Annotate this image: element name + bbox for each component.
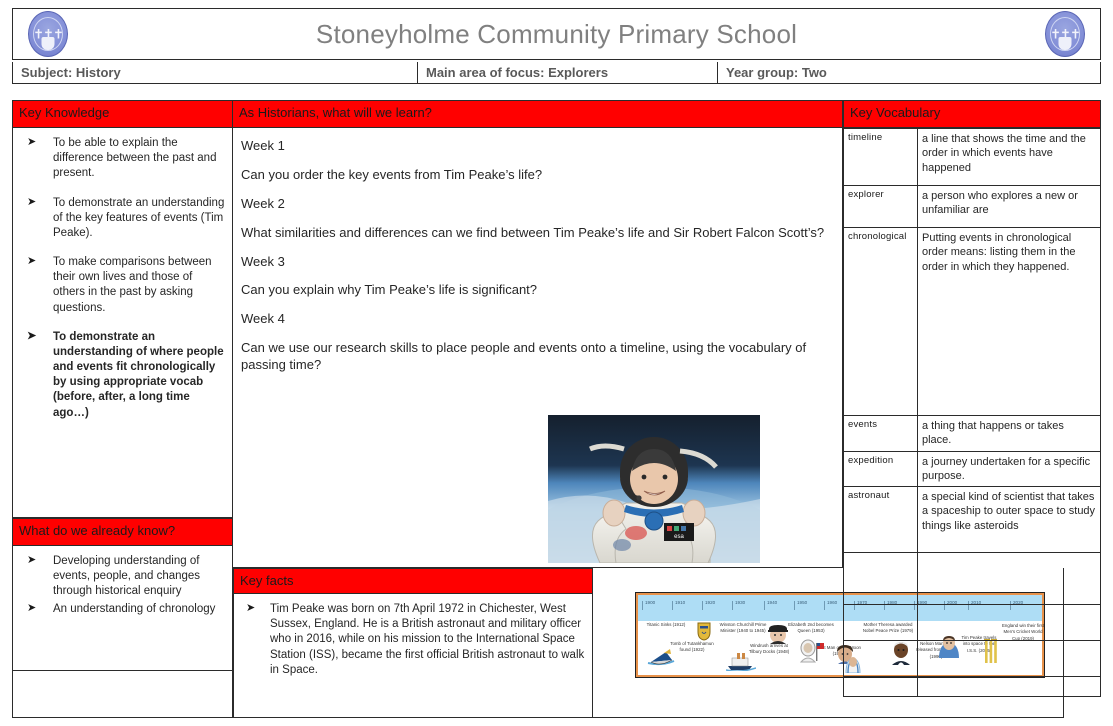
astronaut-photo: esa [548,415,760,563]
vocabulary-row: explorera person who explores a new or u… [844,186,1101,228]
vocabulary-row: timelinea line that shows the time and t… [844,129,1101,186]
key-knowledge-body: To be able to explain the difference bet… [12,128,233,518]
year-group-field: Year group: Two [718,62,1100,83]
learn-line: Can we use our research skills to place … [241,340,834,374]
timeline-event-label: Winston Churchill Prime Minister (1940 t… [714,622,772,635]
learn-line: Week 1 [241,138,834,155]
timeline-event-label: Titanic Sinks (1912) [640,622,692,628]
svg-text:esa: esa [674,534,684,540]
already-know-body: Developing understanding of events, peop… [12,546,233,671]
learn-body: Week 1Can you order the key events from … [233,128,843,568]
churchill-portrait-icon [766,623,790,645]
sinking-ship-icon [646,647,676,669]
timeline-event-label: Elizabeth 2nd becomes Queen (1953) [788,622,834,635]
vocabulary-definition: a special kind of scientist that takes a… [918,487,1101,553]
vocabulary-definition [918,641,1101,677]
vocabulary-term: astronaut [844,487,918,553]
vocabulary-term: explorer [844,186,918,228]
vocabulary-definition: a thing that happens or takes place. [918,416,1101,452]
timeline-year-tick: 1950 [794,601,807,610]
learn-heading: As Historians, what will we learn? [233,100,843,128]
key-knowledge-item: To demonstrate an understanding of the k… [17,196,226,242]
learn-lines: Week 1Can you order the key events from … [233,128,842,374]
tim-peake-photo-svg: esa [548,415,760,563]
learn-line: What similarities and differences can we… [241,225,834,242]
learn-line: Week 4 [241,311,834,328]
vocabulary-term [844,641,918,677]
vocabulary-row [844,605,1101,641]
vocabulary-term: timeline [844,129,918,186]
key-vocabulary-table: timelinea line that shows the time and t… [843,128,1101,697]
vocabulary-row: chronologicalPutting events in chronolog… [844,228,1101,416]
already-know-list: Developing understanding of events, peop… [13,546,232,625]
already-know-item: An understanding of chronology [17,602,226,617]
key-knowledge-list: To be able to explain the difference bet… [13,128,232,441]
vocabulary-term [844,677,918,697]
focus-field: Main area of focus: Explorers [418,62,718,83]
learn-line: Can you explain why Tim Peake’s life is … [241,282,834,299]
vocabulary-row [844,677,1101,697]
already-know-item: Developing understanding of events, peop… [17,554,226,600]
learn-line: Week 2 [241,196,834,213]
vocabulary-definition [918,605,1101,641]
key-knowledge-heading: Key Knowledge [12,100,233,128]
vocabulary-definition: a line that shows the time and the order… [918,129,1101,186]
learn-line: Can you order the key events from Tim Pe… [241,167,834,184]
vocabulary-row: eventsa thing that happens or takes plac… [844,416,1101,452]
already-know-heading: What do we already know? [12,518,233,546]
timeline-year-tick: 1960 [824,601,837,610]
masthead: ✝✝✝ Stoneyholme Community Primary School… [12,8,1101,60]
timeline-year-tick: 1900 [642,601,655,610]
vocabulary-term [844,605,918,641]
vocabulary-definition [918,553,1101,605]
vocabulary-row: astronauta special kind of scientist tha… [844,487,1101,553]
timeline-year-tick: 1930 [732,601,745,610]
left-column-filler-cell [12,671,233,718]
subject-strip: Subject: History Main area of focus: Exp… [12,62,1101,84]
vocabulary-row: expeditiona journey undertaken for a spe… [844,451,1101,487]
school-crest-icon: ✝✝✝ [28,11,68,57]
key-knowledge-item: To make comparisons between their own li… [17,255,226,316]
vocabulary-term [844,553,918,605]
school-crest-left-cell: ✝✝✝ [13,9,83,59]
steam-ship-icon [726,651,756,671]
timeline-year-tick: 1940 [764,601,777,610]
astronaut-flag-icon [798,639,824,663]
main-grid: Key Knowledge To be able to explain the … [12,100,1101,718]
learn-line: Week 3 [241,254,834,271]
page-title: Stoneyholme Community Primary School [83,19,1030,50]
key-knowledge-item: To demonstrate an understanding of where… [17,330,226,421]
key-facts-item: Tim Peake was born on 7th April 1972 in … [238,602,586,678]
key-vocabulary-heading: Key Vocabulary [843,100,1101,128]
pharaoh-mask-icon [696,621,712,641]
key-knowledge-item: To be able to explain the difference bet… [17,136,226,182]
vocabulary-row [844,553,1101,605]
vocabulary-term: chronological [844,228,918,416]
vocabulary-term: events [844,416,918,452]
crest-shield [42,37,55,50]
timeline-year-tick: 1910 [672,601,685,610]
key-facts-body: Tim Peake was born on 7th April 1972 in … [233,594,593,718]
vocabulary-definition [918,677,1101,697]
vocabulary-term: expedition [844,451,918,487]
subject-field: Subject: History [13,62,418,83]
vocabulary-row [844,641,1101,677]
knowledge-organiser-page: ✝✝✝ Stoneyholme Community Primary School… [0,0,1113,726]
timeline-year-tick: 1920 [702,601,715,610]
school-crest-right-cell: ✝✝✝ [1030,9,1100,59]
vocabulary-definition: Putting events in chronological order me… [918,228,1101,416]
vocabulary-definition: a person who explores a new or unfamilia… [918,186,1101,228]
key-facts-heading: Key facts [233,568,593,594]
vocabulary-definition: a journey undertaken for a specific purp… [918,451,1101,487]
key-facts-list: Tim Peake was born on 7th April 1972 in … [234,594,592,684]
school-crest-icon: ✝✝✝ [1045,11,1085,57]
crest-shield [1059,37,1072,50]
